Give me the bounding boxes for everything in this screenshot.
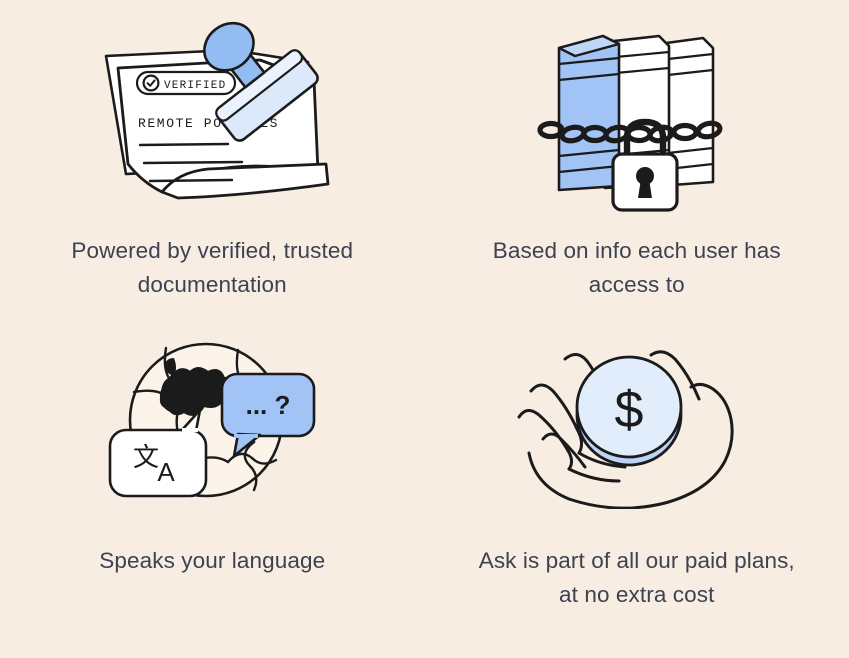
feature-card-verified-documentation: VERIFIED REMOTE POLICIES Powered by veri… xyxy=(0,8,425,328)
feature-card-included-in-paid-plans: $ Ask is part of all our paid plans, at … xyxy=(425,328,849,648)
feature-caption-multilingual: Speaks your language xyxy=(47,544,377,578)
coin-dollar-symbol: $ xyxy=(614,381,643,439)
feature-grid: VERIFIED REMOTE POLICIES Powered by veri… xyxy=(0,0,849,658)
feature-card-user-access-scoped: Based on info each user has access to xyxy=(425,8,849,328)
document-verified-label: VERIFIED xyxy=(164,80,226,92)
translate-glyph-cjk: 文 xyxy=(133,443,159,473)
chained-books-illustration xyxy=(537,8,737,220)
feature-caption-user-access-scoped: Based on info each user has access to xyxy=(472,234,802,302)
puzzle-globe-translate-illustration: ... ? 文 A xyxy=(104,328,320,524)
translate-glyph-latin: A xyxy=(158,457,176,487)
feature-caption-verified-documentation: Powered by verified, trusted documentati… xyxy=(47,234,377,302)
hand-holding-coin-illustration: $ xyxy=(513,328,761,524)
stamped-document-illustration: VERIFIED REMOTE POLICIES xyxy=(82,8,342,220)
bubble-question-text: ... ? xyxy=(246,390,291,420)
feature-card-multilingual: ... ? 文 A Speaks your language xyxy=(0,328,425,648)
coin-icon: $ xyxy=(577,357,681,465)
feature-caption-included-in-paid-plans: Ask is part of all our paid plans, at no… xyxy=(472,544,802,612)
